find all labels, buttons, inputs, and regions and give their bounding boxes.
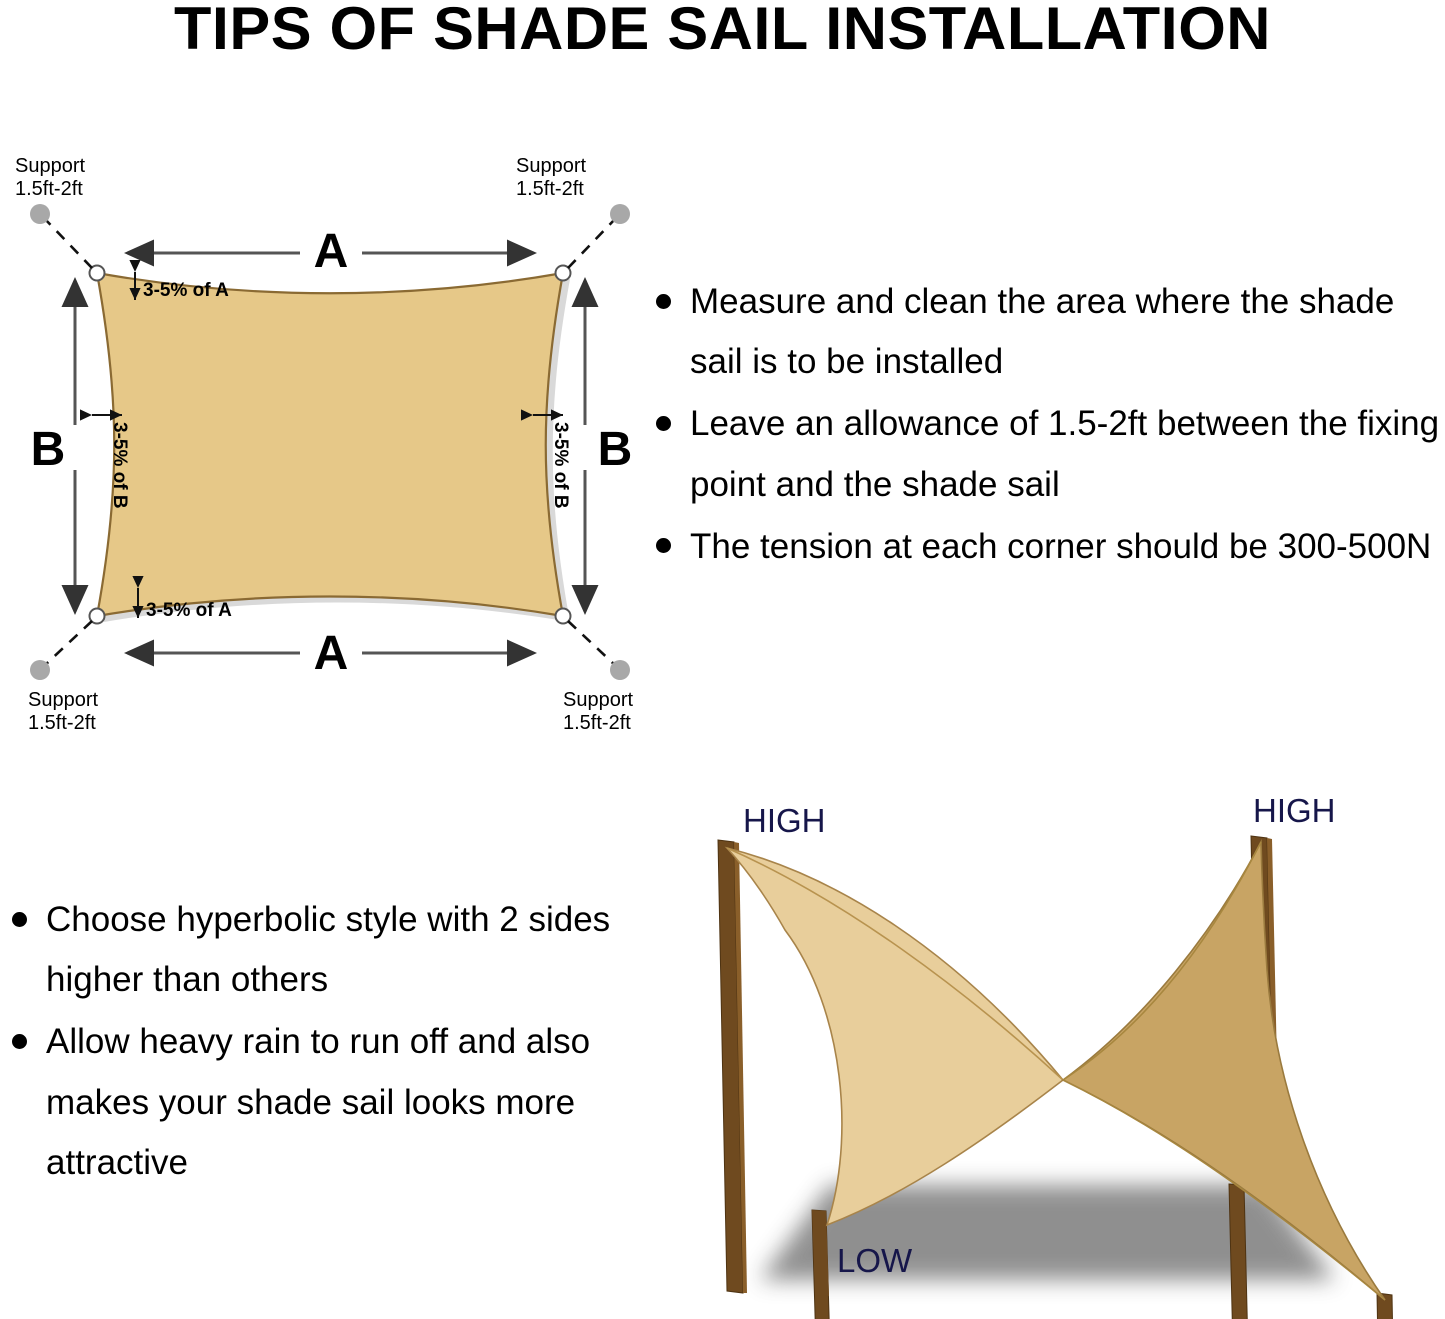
dimension-label-left-b: B: [31, 423, 66, 476]
label-high-right: HIGH: [1253, 792, 1336, 829]
page-title: TIPS OF SHADE SAIL INSTALLATION: [0, 0, 1445, 63]
support-label-bottom-right-title: Support: [563, 689, 633, 711]
tip-text: Leave an allowance of 1.5-2ft between th…: [690, 394, 1445, 514]
sag-label-bottom: 3-5% of A: [146, 600, 232, 621]
tip-text: The tension at each corner should be 300…: [690, 517, 1445, 577]
support-label-top-right-range: 1.5ft-2ft: [516, 178, 584, 200]
tip-text: Choose hyperbolic style with 2 sides hig…: [46, 890, 624, 1010]
dimension-label-bottom-a: A: [314, 627, 349, 680]
support-label-top-left-range: 1.5ft-2ft: [15, 178, 83, 200]
list-item: Choose hyperbolic style with 2 sides hig…: [4, 890, 624, 1010]
dimension-label-right-b: B: [598, 423, 633, 476]
sag-label-top: 3-5% of A: [143, 280, 229, 301]
support-label-top-right-title: Support: [516, 155, 586, 177]
label-high-left: HIGH: [743, 802, 826, 839]
dimension-arrow-right-b: B: [585, 280, 632, 612]
dimension-arrow-bottom-a: A: [127, 627, 534, 680]
tips-list-hyperbolic: Choose hyperbolic style with 2 sides hig…: [4, 890, 624, 1195]
infographic-page: TIPS OF SHADE SAIL INSTALLATION: [0, 0, 1445, 1319]
bullet-icon: [656, 416, 671, 431]
support-label-bottom-left-title: Support: [28, 689, 98, 711]
tips-list-installation: Measure and clean the area where the sha…: [648, 272, 1445, 579]
dimension-arrow-top-a: A: [127, 225, 534, 278]
list-item: The tension at each corner should be 300…: [648, 517, 1445, 577]
bullet-icon: [12, 912, 27, 927]
list-item: Allow heavy rain to run off and also mak…: [4, 1012, 624, 1193]
shade-sail-shape: [97, 273, 563, 616]
sail-surface-left: [727, 848, 1063, 1225]
support-label-bottom-right-range: 1.5ft-2ft: [563, 712, 631, 730]
sag-label-right: 3-5% of B: [550, 422, 571, 509]
support-label-bottom-left-range: 1.5ft-2ft: [28, 712, 96, 730]
dimension-label-top-a: A: [314, 225, 349, 278]
sag-callout-left: 3-5% of B: [92, 415, 130, 509]
hyperbolic-sail-diagram: HIGH HIGH LOW LOW: [655, 780, 1445, 1319]
bullet-icon: [12, 1034, 27, 1049]
sag-label-left: 3-5% of B: [109, 422, 130, 509]
label-low-left: LOW: [837, 1242, 913, 1279]
support-label-top-left-title: Support: [15, 155, 85, 177]
rectangular-sail-diagram: Support 1.5ft-2ft Support 1.5ft-2ft Supp…: [0, 150, 660, 730]
tip-text: Allow heavy rain to run off and also mak…: [46, 1012, 624, 1193]
tip-text: Measure and clean the area where the sha…: [690, 272, 1445, 392]
sag-callout-top: 3-5% of A: [135, 272, 229, 301]
bullet-icon: [656, 294, 671, 309]
dimension-arrow-left-b: B: [31, 280, 75, 612]
list-item: Measure and clean the area where the sha…: [648, 272, 1445, 392]
bullet-icon: [656, 538, 671, 553]
list-item: Leave an allowance of 1.5-2ft between th…: [648, 394, 1445, 514]
post-low-right: [1377, 1293, 1397, 1319]
